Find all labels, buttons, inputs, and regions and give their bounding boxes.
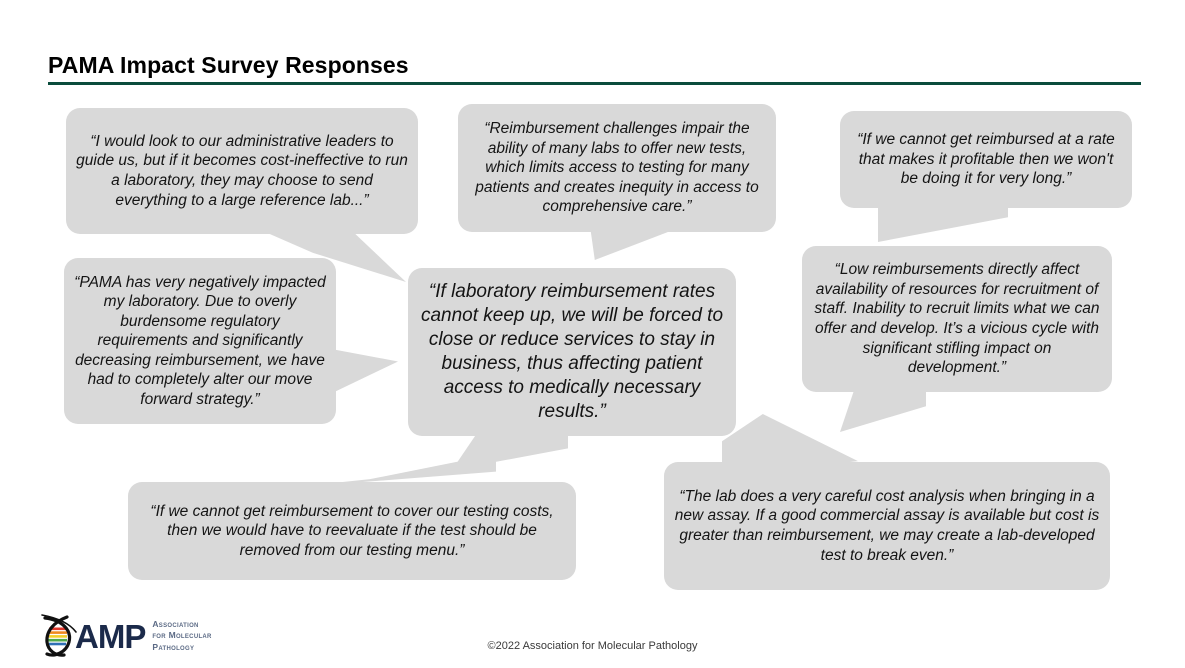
amp-logo-subtitle: Association for Molecular Pathology: [152, 619, 211, 653]
amp-logo: AMP Association for Molecular Pathology: [36, 611, 236, 661]
quote-text-2: “Reimbursement challenges impair the abi…: [458, 119, 776, 217]
speech-bubble-7: “If we cannot get reimbursement to cover…: [128, 482, 576, 580]
quote-text-7: “If we cannot get reimbursement to cover…: [128, 502, 576, 561]
quote-text-8: “The lab does a very careful cost analys…: [664, 487, 1110, 565]
title-underline-rule: [48, 82, 1141, 85]
quote-text-6: “Low reimbursements directly affect avai…: [802, 260, 1112, 377]
speech-bubble-3: “If we cannot get reimbursed at a rate t…: [840, 111, 1132, 208]
speech-bubble-tail-4: [326, 348, 398, 396]
quote-text-1: “I would look to our administrative lead…: [66, 132, 418, 210]
speech-bubble-tail-6: [840, 386, 926, 432]
speech-bubble-2: “Reimbursement challenges impair the abi…: [458, 104, 776, 232]
page-title: PAMA Impact Survey Responses: [48, 52, 409, 79]
quote-text-4: “PAMA has very negatively impacted my la…: [64, 273, 336, 410]
slide-canvas: PAMA Impact Survey Responses “I would lo…: [0, 0, 1185, 668]
speech-bubble-1: “I would look to our administrative lead…: [66, 108, 418, 234]
quote-text-3: “If we cannot get reimbursed at a rate t…: [840, 130, 1132, 189]
speech-bubble-8: “The lab does a very careful cost analys…: [664, 462, 1110, 590]
speech-bubble-tail-3: [878, 202, 1008, 242]
amp-wordmark: AMP: [75, 620, 145, 653]
amp-subtitle-line-1: Association: [152, 619, 211, 630]
quote-text-5: “If laboratory reimbursement rates canno…: [408, 280, 736, 424]
amp-subtitle-line-3: Pathology: [152, 642, 211, 653]
speech-bubble-4: “PAMA has very negatively impacted my la…: [64, 258, 336, 424]
speech-bubble-6: “Low reimbursements directly affect avai…: [802, 246, 1112, 392]
amp-subtitle-line-2: for Molecular: [152, 630, 211, 641]
speech-bubble-5: “If laboratory reimbursement rates canno…: [408, 268, 736, 436]
